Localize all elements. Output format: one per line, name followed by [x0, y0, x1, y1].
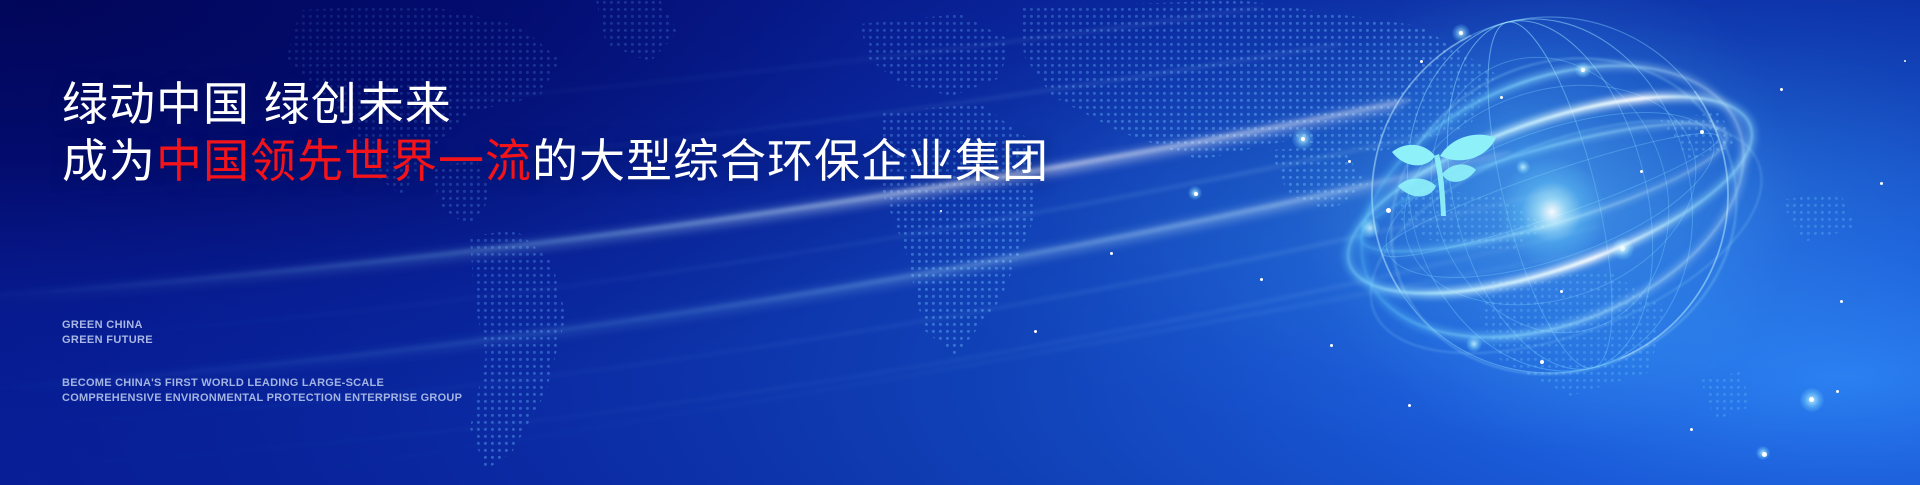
tagline-english-group: BECOME CHINA'S FIRST WORLD LEADING LARGE… [62, 376, 462, 406]
headline-line-1: 绿动中国 绿创未来 [62, 78, 1049, 131]
headline-line-2: 成为中国领先世界一流的大型综合环保企业集团 [62, 135, 1049, 188]
banner-content: 绿动中国 绿创未来 成为中国领先世界一流的大型综合环保企业集团 GREEN CH… [0, 0, 1200, 485]
slogan-line-1: GREEN CHINA [62, 318, 153, 333]
headline-line-2-prefix: 成为 [62, 135, 156, 187]
slogan-english-group: GREEN CHINA GREEN FUTURE [62, 318, 153, 348]
tagline-line-2: COMPREHENSIVE ENVIRONMENTAL PROTECTION E… [62, 391, 462, 406]
slogan-line-2: GREEN FUTURE [62, 333, 153, 348]
headline-line-2-suffix: 的大型综合环保企业集团 [532, 135, 1049, 187]
hero-banner: 绿动中国 绿创未来 成为中国领先世界一流的大型综合环保企业集团 GREEN CH… [0, 0, 1920, 485]
headline-group: 绿动中国 绿创未来 成为中国领先世界一流的大型综合环保企业集团 [62, 78, 1049, 189]
tagline-line-1: BECOME CHINA'S FIRST WORLD LEADING LARGE… [62, 376, 462, 391]
headline-line-2-highlight: 中国领先世界一流 [156, 135, 532, 187]
